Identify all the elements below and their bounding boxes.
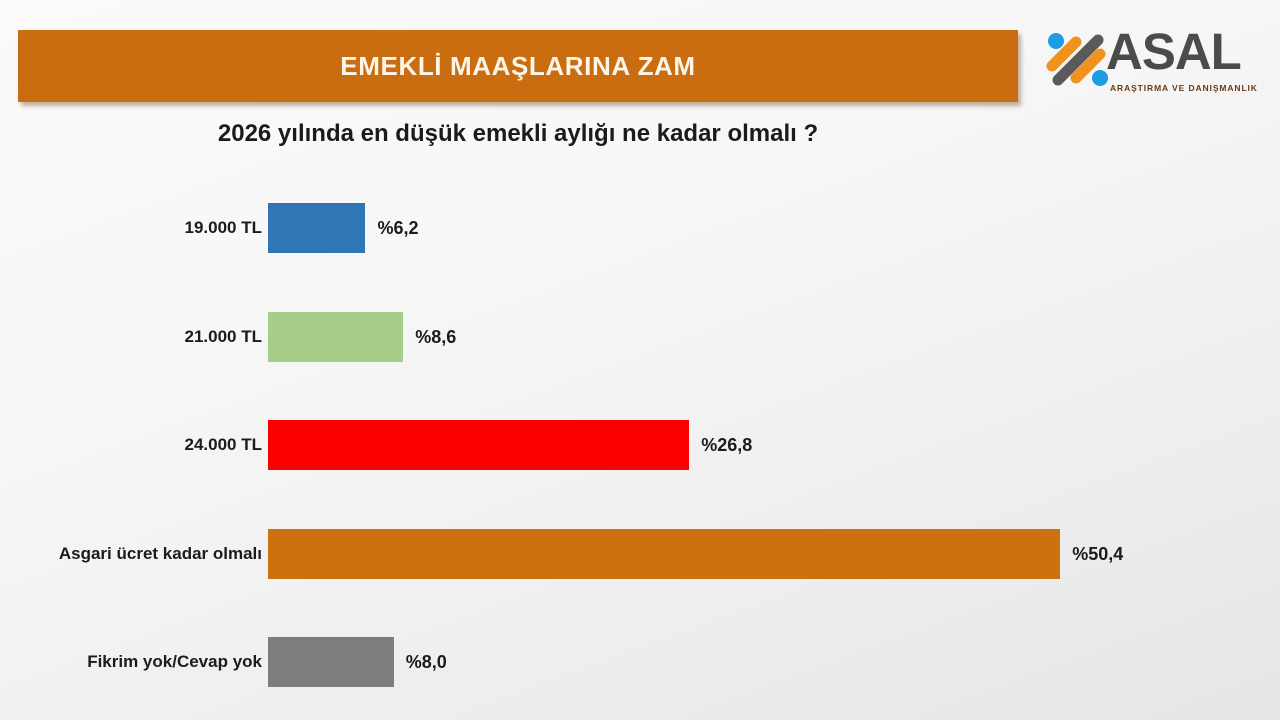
title-banner: EMEKLİ MAAŞLARINA ZAM [18,30,1018,102]
chart-question: 2026 yılında en düşük emekli aylığı ne k… [0,120,1036,148]
asal-logo: ASAL ARAŞTIRMA VE DANIŞMANLIK [1040,22,1272,104]
asal-logo-tagline: ARAŞTIRMA VE DANIŞMANLIK [1110,83,1276,93]
asal-logo-wordmark: ASAL [1106,24,1274,86]
bar-row: Fikrim yok/Cevap yok%8,0 [0,636,1280,688]
bar-value-label: %8,6 [415,311,456,363]
page-title: EMEKLİ MAAŞLARINA ZAM [340,51,695,82]
bar-row: 24.000 TL%26,8 [0,419,1280,471]
bar-category-label: Asgari ücret kadar olmalı [59,528,262,580]
asal-logo-mark-icon [1042,28,1114,90]
bar-value-label: %50,4 [1072,528,1123,580]
bar-value-label: %6,2 [377,202,418,254]
bar-category-label: 24.000 TL [185,419,263,471]
bar-value-label: %26,8 [701,419,752,471]
bar-4 [268,529,1060,579]
bar-row: Asgari ücret kadar olmalı%50,4 [0,528,1280,580]
bar-3 [268,420,689,470]
bar-chart: 19.000 TL%6,221.000 TL%8,624.000 TL%26,8… [0,178,1280,718]
bar-value-label: %8,0 [406,636,447,688]
bar-category-label: 19.000 TL [185,202,263,254]
bar-row: 21.000 TL%8,6 [0,311,1280,363]
bar-5 [268,637,394,687]
bar-2 [268,312,403,362]
header: EMEKLİ MAAŞLARINA ZAM ASAL ARAŞTIRMA VE … [0,0,1280,115]
bar-1 [268,203,365,253]
bar-category-label: Fikrim yok/Cevap yok [87,636,262,688]
bar-row: 19.000 TL%6,2 [0,202,1280,254]
bar-category-label: 21.000 TL [185,311,263,363]
